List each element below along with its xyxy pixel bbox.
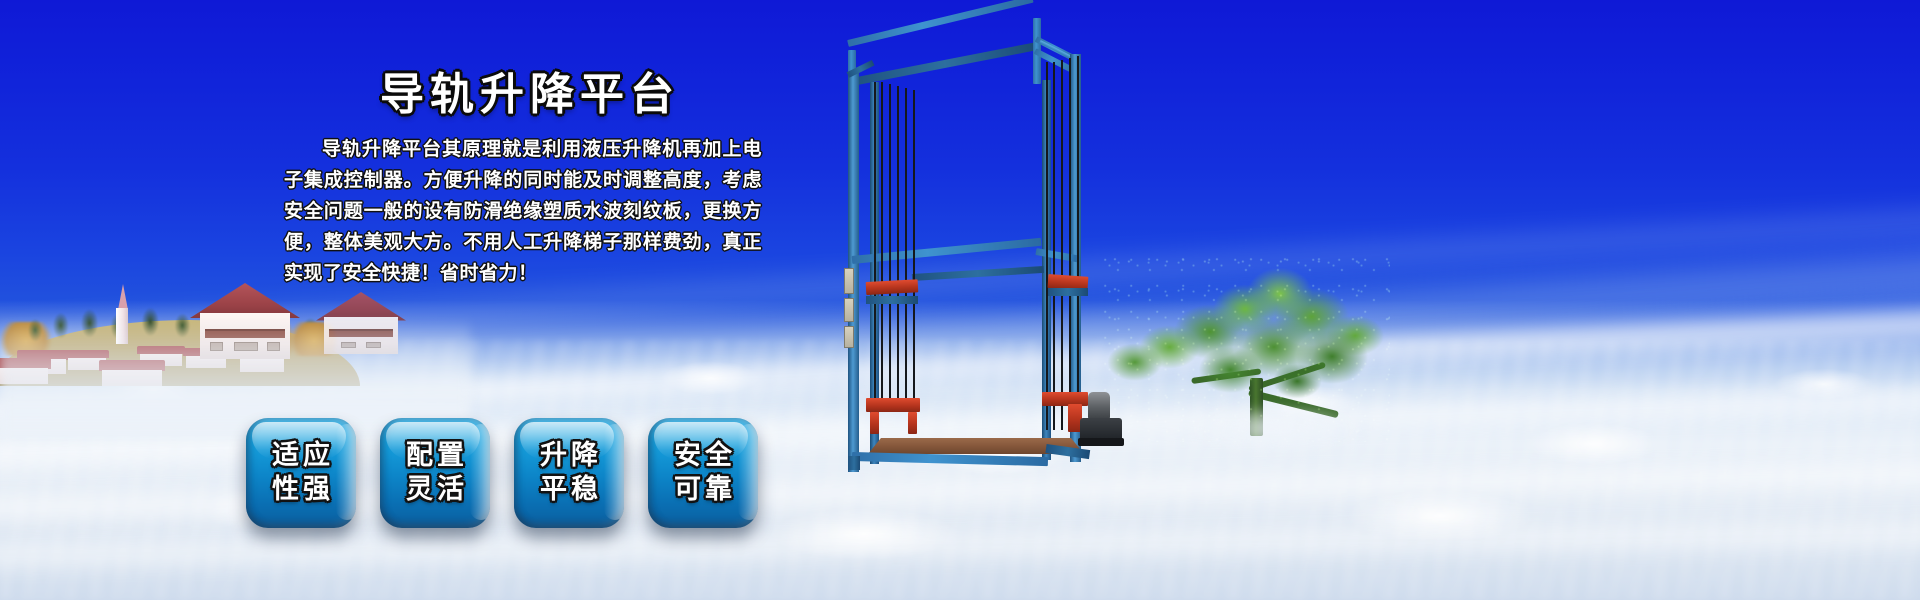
feature-badge-line2: 可靠 — [670, 473, 736, 507]
lift-cable — [905, 88, 907, 412]
steeple-spire — [118, 284, 128, 310]
sheave-block-left — [866, 296, 918, 304]
red-lower-leg — [870, 412, 879, 434]
lift-cable — [881, 82, 883, 412]
feature-badge-line1: 配置 — [402, 439, 468, 473]
feature-badge-line2: 性强 — [268, 473, 334, 507]
guide-rail-lift-platform — [830, 20, 1130, 490]
deck-right-beam — [1045, 444, 1090, 459]
sheave-block-right — [1048, 288, 1088, 296]
feature-badge-line1: 升降 — [536, 439, 602, 473]
mid-cross-beam-lower — [912, 266, 1044, 281]
red-lower-bar-left — [866, 398, 920, 412]
lift-cable — [874, 82, 876, 412]
lift-cable — [1053, 62, 1055, 430]
lift-cable — [1077, 56, 1079, 430]
feature-badge-smooth-lifting[interactable]: 升降 平稳 — [514, 418, 624, 528]
feature-badge-line2: 灵活 — [402, 473, 468, 507]
lift-cable — [889, 84, 891, 412]
control-box — [844, 298, 854, 322]
control-box — [844, 326, 854, 348]
feature-badge-safety[interactable]: 安全 可靠 — [648, 418, 758, 528]
product-description: 导轨升降平台其原理就是利用液压升降机再加上电子集成控制器。方便升降的同时能及时调… — [284, 134, 762, 289]
motor-base — [1078, 438, 1124, 446]
lift-cable — [1046, 62, 1048, 430]
feature-badge-line2: 平稳 — [536, 473, 602, 507]
tree-base-fog — [1186, 410, 1366, 456]
control-box — [844, 268, 854, 294]
product-banner: 导轨升降平台 导轨升降平台其原理就是利用液压升降机再加上电子集成控制器。方便升降… — [0, 0, 1920, 600]
deck-left-foot — [848, 456, 860, 470]
deck-front-beam — [852, 452, 1048, 466]
red-crosshead-left — [866, 279, 919, 295]
green-tree — [1100, 252, 1390, 442]
feature-badge-line1: 安全 — [670, 439, 736, 473]
lift-cable — [897, 86, 899, 412]
lift-cable — [913, 90, 915, 412]
lift-cable — [1061, 60, 1063, 430]
lift-cable — [1069, 58, 1071, 430]
feature-badge-configuration[interactable]: 配置 灵活 — [380, 418, 490, 528]
feature-badge-adaptability[interactable]: 适应 性强 — [246, 418, 356, 528]
frame-top-inner-beam — [851, 42, 1039, 86]
red-lower-leg — [908, 412, 917, 434]
feature-badge-list: 适应 性强 配置 灵活 升降 平稳 安全 可靠 — [246, 418, 758, 528]
feature-badge-line1: 适应 — [268, 439, 334, 473]
page-title: 导轨升降平台 — [380, 58, 680, 122]
